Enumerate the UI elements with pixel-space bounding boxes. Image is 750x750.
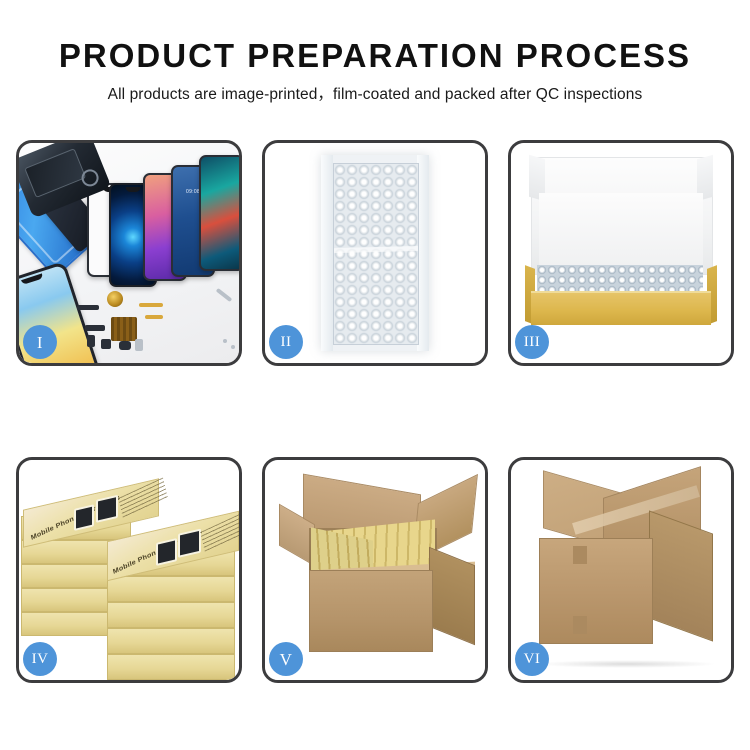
speaker-part [107, 291, 123, 307]
step-panel-5: V [262, 457, 488, 683]
header: PRODUCT PREPARATION PROCESS All products… [0, 0, 750, 106]
sealed-carton-front [539, 538, 653, 644]
carton-shadow [537, 660, 717, 668]
box-window-front-1 [156, 538, 177, 566]
connector-part-1 [85, 325, 105, 331]
product-preparation-infographic: PRODUCT PREPARATION PROCESS All products… [0, 0, 750, 750]
flex-cable-part-1 [139, 303, 163, 307]
step-badge-1: I [23, 325, 57, 359]
step-panel-4: Mobile Phone Spare Parts Mobile Phone Sp… [16, 457, 242, 683]
screw-part-1 [223, 339, 227, 343]
carton-handle-notch-top [573, 546, 587, 564]
step-badge-2: II [269, 325, 303, 359]
screw-part-2 [231, 345, 235, 349]
carton-handle-notch-bottom [573, 616, 587, 634]
phone-screen-teal [199, 155, 239, 271]
stacked-box-front-3 [107, 602, 235, 628]
kraft-box-front [531, 293, 711, 325]
tweezers-tool [216, 288, 233, 302]
ic-chip-part [111, 317, 137, 341]
box-stack: Mobile Phone Spare Parts Mobile Phone Sp… [21, 472, 239, 668]
box-spec-lines-rear [118, 478, 168, 519]
antenna-part [77, 305, 99, 310]
steps-grid: 09:08 I [16, 140, 734, 686]
box-window-rear-1 [74, 504, 94, 531]
stacked-box-front-5 [107, 654, 235, 680]
page-subtitle: All products are image-printed，film-coat… [0, 84, 750, 106]
step-badge-3: III [515, 325, 549, 359]
step-badge-5: V [269, 642, 303, 676]
carton-front [309, 570, 433, 652]
flex-cable-part-2 [145, 315, 163, 319]
sealed-carton-side [649, 510, 713, 641]
step-panel-3: III [508, 140, 734, 366]
box-spec-lines-front [200, 512, 239, 553]
step-panel-2: II [262, 140, 488, 366]
connector-part-2 [87, 335, 95, 347]
camera-part [101, 339, 111, 349]
box-window-front-2 [178, 529, 201, 558]
step-badge-6: VI [515, 642, 549, 676]
pouch-seam-left [321, 155, 333, 351]
white-foam-sheet [539, 193, 703, 265]
bubble-wrap-pouch [321, 155, 429, 351]
stacked-box-front-4 [107, 628, 235, 654]
step-badge-4: IV [23, 642, 57, 676]
stacked-box-front-2 [107, 576, 235, 602]
step-panel-1: 09:08 I [16, 140, 242, 366]
page-title: PRODUCT PREPARATION PROCESS [0, 36, 750, 76]
bubble-wrap-bubbles [333, 163, 419, 345]
step-panel-6: VI [508, 457, 734, 683]
metal-bracket-part [135, 339, 143, 351]
button-part [119, 341, 131, 350]
box-window-rear-2 [96, 495, 118, 523]
